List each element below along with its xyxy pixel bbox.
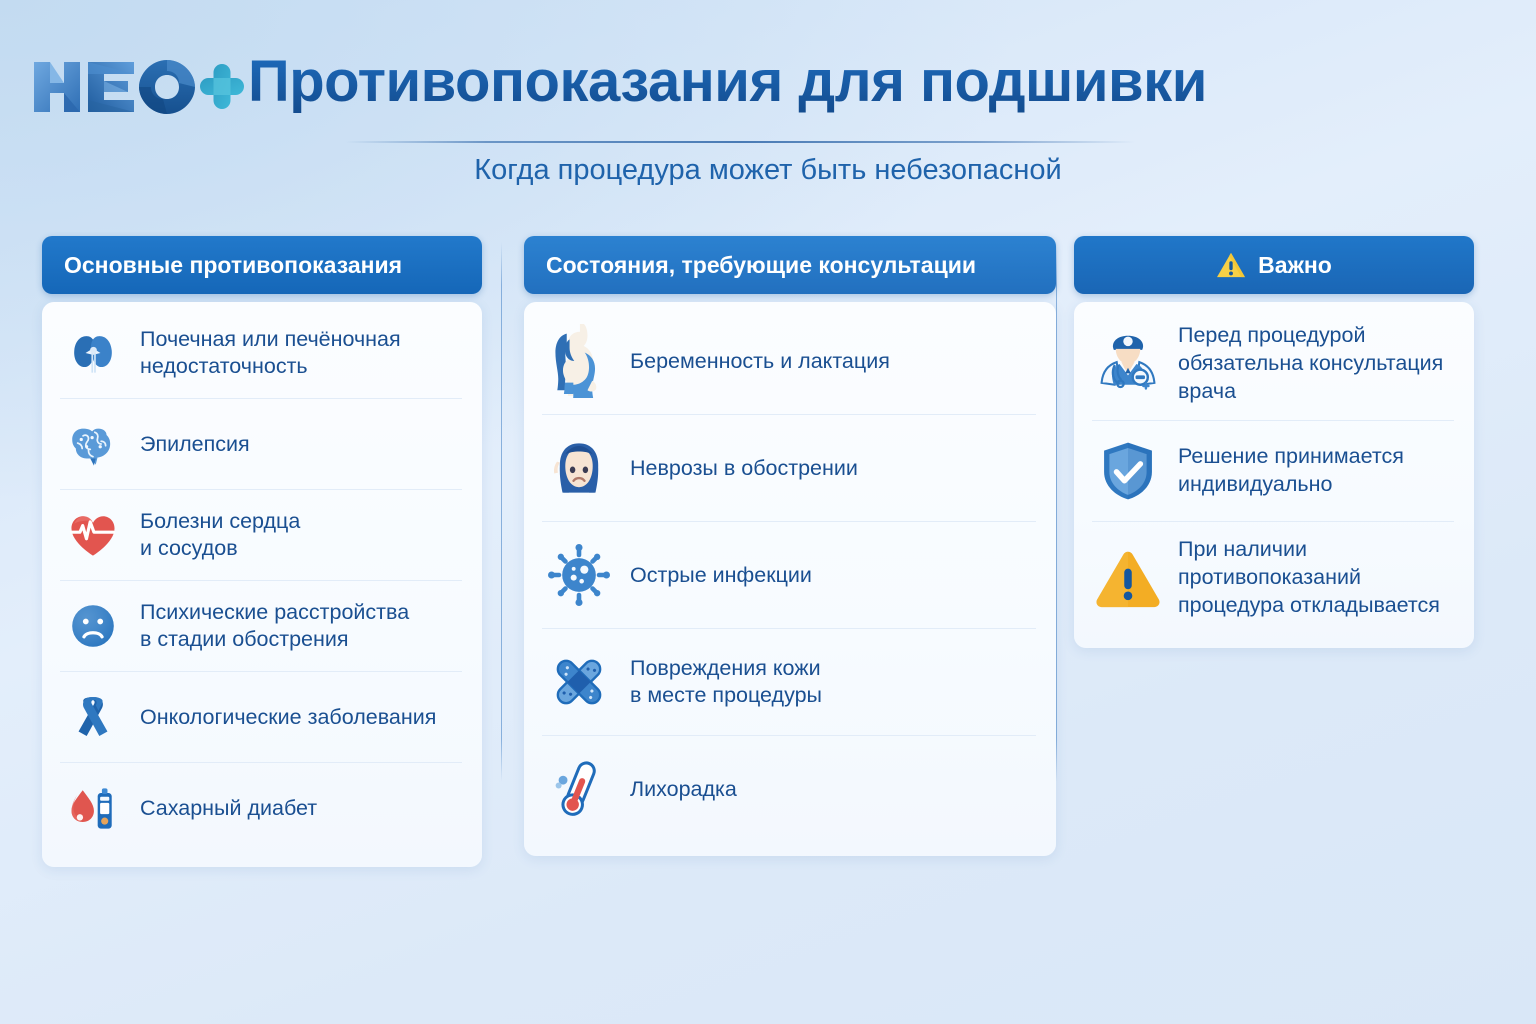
list-item-label: Лихорадка	[630, 776, 737, 803]
column-body: Беременность и лактация	[524, 302, 1056, 856]
glucometer-blood-drop-icon	[62, 777, 124, 839]
column-header: Важно	[1074, 236, 1474, 294]
column-title: Основные противопоказания	[64, 252, 402, 279]
list-item[interactable]: Острые инфекции	[542, 522, 1036, 629]
list-item[interactable]: Повреждения кожив месте процедуры	[542, 629, 1036, 736]
list-item-label: Эпилепсия	[140, 431, 250, 458]
list-item-label: Острые инфекции	[630, 562, 812, 589]
list-item-label: Беременность и лактация	[630, 348, 890, 375]
doctor-icon	[1094, 328, 1162, 400]
list-item[interactable]: Решение принимаетсяиндивидуально	[1092, 421, 1454, 522]
awareness-ribbon-icon	[62, 686, 124, 748]
sad-face-icon	[62, 595, 124, 657]
list-item-label: Онкологические заболевания	[140, 704, 436, 731]
column-main-contraindications: Основные противопоказания Почечная или п…	[42, 236, 482, 867]
sad-girl-icon	[544, 431, 614, 505]
list-item[interactable]: Эпилепсия	[60, 399, 462, 490]
list-item-label: Сахарный диабет	[140, 795, 317, 822]
list-item-label: При наличиипротивопоказанийпроцедура отк…	[1178, 536, 1440, 620]
list-item[interactable]: Онкологические заболевания	[60, 672, 462, 763]
heart-pulse-icon	[62, 504, 124, 566]
column-body: Перед процедуройобязательна консультация…	[1074, 302, 1474, 648]
bandage-icon	[544, 645, 614, 719]
column-header: Основные противопоказания	[42, 236, 482, 294]
neo-plus-logo	[30, 52, 245, 120]
list-item[interactable]: При наличиипротивопоказанийпроцедура отк…	[1092, 522, 1454, 634]
column-header: Состояния, требующие консультации	[524, 236, 1056, 294]
kidneys-icon	[62, 322, 124, 384]
list-item[interactable]: Почечная или печёночнаянедостаточность	[60, 308, 462, 399]
list-item-label: Болезни сердцаи сосудов	[140, 508, 300, 562]
brain-icon	[62, 413, 124, 475]
column-divider-1	[501, 242, 502, 782]
page-title: Противопоказания для подшивки	[248, 48, 1207, 115]
column-conditions-requiring-consultation: Состояния, требующие консультации Береме…	[524, 236, 1056, 856]
list-item[interactable]: Психические расстройствав стадии обостре…	[60, 581, 462, 672]
list-item[interactable]: Перед процедуройобязательна консультация…	[1092, 308, 1454, 421]
list-item[interactable]: Сахарный диабет	[60, 763, 462, 853]
column-important: Важно	[1074, 236, 1474, 648]
thermometer-icon	[544, 752, 614, 826]
column-body: Почечная или печёночнаянедостаточность	[42, 302, 482, 867]
columns-board: Основные противопоказания Почечная или п…	[0, 236, 1536, 916]
page-header: Противопоказания для подшивки Когда проц…	[0, 0, 1536, 205]
warning-triangle-icon	[1216, 251, 1246, 279]
warning-triangle-icon	[1094, 542, 1162, 614]
virus-icon	[544, 538, 614, 612]
pregnant-woman-icon	[544, 324, 614, 398]
list-item-label: Психические расстройствав стадии обостре…	[140, 599, 409, 653]
column-title: Состояния, требующие консультации	[546, 252, 976, 279]
column-divider-2	[1056, 242, 1057, 782]
page-subtitle: Когда процедура может быть небезопасной	[0, 154, 1536, 187]
list-item-label: Перед процедуройобязательна консультация…	[1178, 322, 1443, 406]
list-item[interactable]: Лихорадка	[542, 736, 1036, 842]
list-item[interactable]: Неврозы в обострении	[542, 415, 1036, 522]
shield-check-icon	[1094, 435, 1162, 507]
column-title: Важно	[1258, 252, 1332, 279]
list-item-label: Повреждения кожив месте процедуры	[630, 655, 822, 709]
list-item-label: Неврозы в обострении	[630, 455, 858, 482]
list-item-label: Решение принимаетсяиндивидуально	[1178, 443, 1404, 499]
list-item[interactable]: Болезни сердцаи сосудов	[60, 490, 462, 581]
title-divider	[345, 141, 1135, 143]
list-item[interactable]: Беременность и лактация	[542, 308, 1036, 415]
list-item-label: Почечная или печёночнаянедостаточность	[140, 326, 401, 380]
